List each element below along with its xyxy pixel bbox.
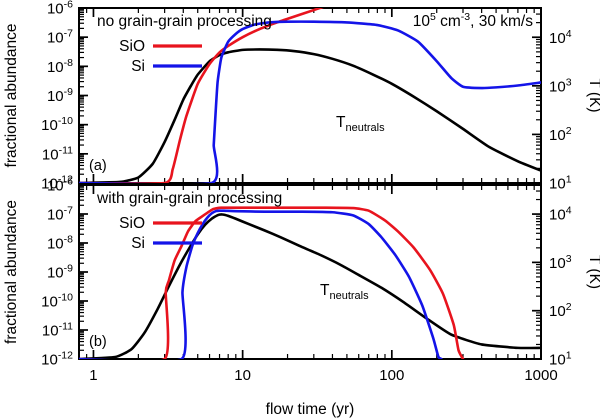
chart-canvas: 10-610-710-810-910-1010-1110-12104103102…: [0, 0, 600, 420]
y-right-tick-label: 101: [549, 350, 572, 369]
y-left-tick-label: 10-11: [42, 144, 73, 163]
y-left-tick-label: 10-9: [47, 263, 73, 282]
panel-letter-a: (a): [89, 158, 107, 174]
series-line-t_neutrals: [79, 49, 541, 183]
x-tick-label: 10: [234, 367, 251, 384]
temperature-annotation-b: Tneutrals: [320, 282, 369, 302]
temperature-annotation-a: Tneutrals: [336, 114, 385, 134]
x-tick-label: 1: [89, 367, 97, 384]
y-left-tick-label: 10-6: [47, 0, 73, 18]
y-right-tick-label: 101: [549, 174, 572, 193]
y-right-tick-label: 104: [549, 28, 572, 47]
y-left-tick-label: 10-7: [47, 28, 73, 47]
series-line-si: [79, 211, 441, 362]
y-left-tick-label: 10-10: [41, 115, 73, 134]
y-left-tick-label: 10-8: [47, 57, 73, 76]
y-axis-title-right-b: T (K): [586, 255, 600, 289]
x-tick-label: 100: [379, 367, 404, 384]
y-right-tick-label: 103: [549, 253, 572, 272]
legend-label-si: Si: [131, 58, 145, 75]
x-tick-label: 1000: [524, 367, 557, 384]
y-right-tick-label: 104: [549, 205, 572, 224]
panel-title-a: no grain-grain processing: [97, 13, 272, 30]
y-left-tick-label: 10-8: [47, 234, 73, 253]
y-right-tick-label: 102: [549, 125, 572, 144]
panel-letter-b: (b): [89, 334, 107, 350]
legend-label-sio: SiO: [119, 215, 145, 232]
panel-title-b: with grain-grain processing: [96, 190, 282, 207]
series-line-si: [79, 22, 541, 185]
panel-frame: [79, 8, 541, 183]
y-right-tick-label: 103: [549, 76, 572, 95]
y-left-tick-label: 10-12: [41, 350, 73, 369]
series-line-t_neutrals: [79, 215, 541, 359]
x-axis-title: flow time (yr): [266, 401, 355, 418]
y-axis-title-right-a: T (K): [586, 78, 600, 112]
y-left-tick-label: 10-6: [47, 176, 73, 195]
y-right-tick-label: 102: [549, 301, 572, 320]
y-left-tick-label: 10-9: [47, 86, 73, 105]
legend-label-si: Si: [131, 235, 145, 252]
y-left-tick-label: 10-7: [47, 205, 73, 224]
series-group-b: [79, 208, 541, 362]
legend-label-sio: SiO: [119, 38, 145, 55]
y-axis-title-left-b: fractional abundance: [3, 200, 20, 344]
y-left-tick-label: 10-11: [42, 321, 73, 340]
y-left-tick-label: 10-10: [41, 292, 73, 311]
panel-a: [79, 8, 541, 183]
density-velocity-annotation: 105 cm-3, 30 km/s: [413, 11, 534, 30]
y-axis-title-left-a: fractional abundance: [3, 24, 20, 168]
figure-root: 10-610-710-810-910-1010-1110-12104103102…: [0, 0, 600, 420]
